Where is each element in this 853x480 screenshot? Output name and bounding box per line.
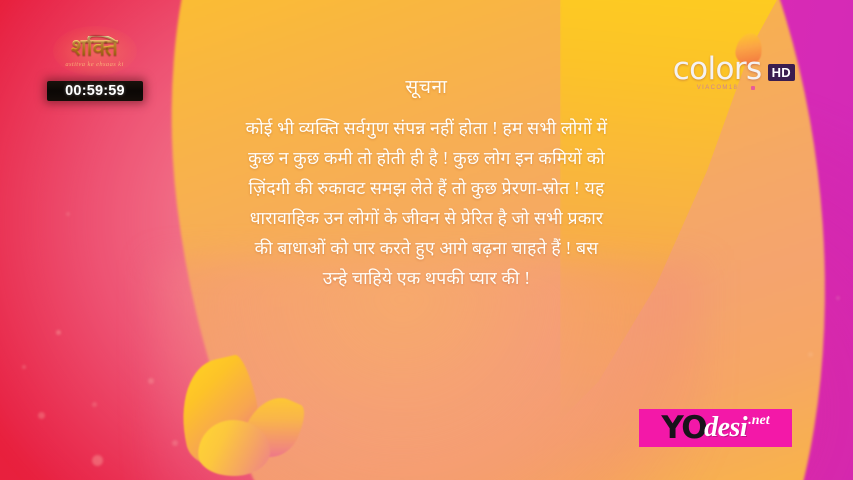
announcement-line: कुछ न कुछ कमी तो होती ही है ! कुछ लोग इन…	[0, 147, 853, 170]
announcement-line: ज़िंदगी की रुकावट समझ लेते हैं तो कुछ प्…	[0, 177, 853, 200]
watermark-yo: YO	[661, 413, 706, 444]
announcement-title: सूचना	[0, 78, 853, 97]
shakti-logo-title: शक्ति	[71, 36, 118, 59]
announcement-line: की बाधाओं को पार करते हुए आगे बढ़ना चाहत…	[0, 237, 853, 260]
announcement-line: धारावाहिक उन लोगों के जीवन से प्रेरित है…	[0, 207, 853, 230]
lotus-petals-graphic	[176, 358, 326, 478]
bokeh-particle	[148, 378, 154, 384]
bokeh-particle	[92, 402, 97, 407]
bokeh-particle	[92, 455, 103, 466]
shakti-show-logo: शक्ति astitva ke ehsaas ki	[47, 26, 142, 78]
watermark-net: .net	[748, 414, 769, 428]
tv-broadcast-frame: शक्ति astitva ke ehsaas ki 00:59:59 colo…	[0, 0, 853, 480]
bokeh-particle	[38, 412, 45, 419]
watermark-desi: desi	[704, 414, 747, 442]
announcement-line: कोई भी व्यक्ति सर्वगुण संपन्न नहीं होता …	[0, 117, 853, 140]
bokeh-particle	[22, 365, 26, 369]
announcement-body: कोई भी व्यक्ति सर्वगुण संपन्न नहीं होता …	[0, 117, 853, 291]
yodesi-watermark: YO desi .net	[639, 409, 792, 447]
bokeh-particle	[808, 352, 813, 357]
announcement-panel: सूचना कोई भी व्यक्ति सर्वगुण संपन्न नहीं…	[0, 78, 853, 291]
bokeh-particle	[836, 296, 840, 300]
announcement-line: उन्हे चाहिये एक थपकी प्यार की !	[0, 267, 853, 290]
shakti-logo-subtitle: astitva ke ehsaas ki	[65, 61, 123, 68]
bokeh-particle	[56, 330, 61, 335]
